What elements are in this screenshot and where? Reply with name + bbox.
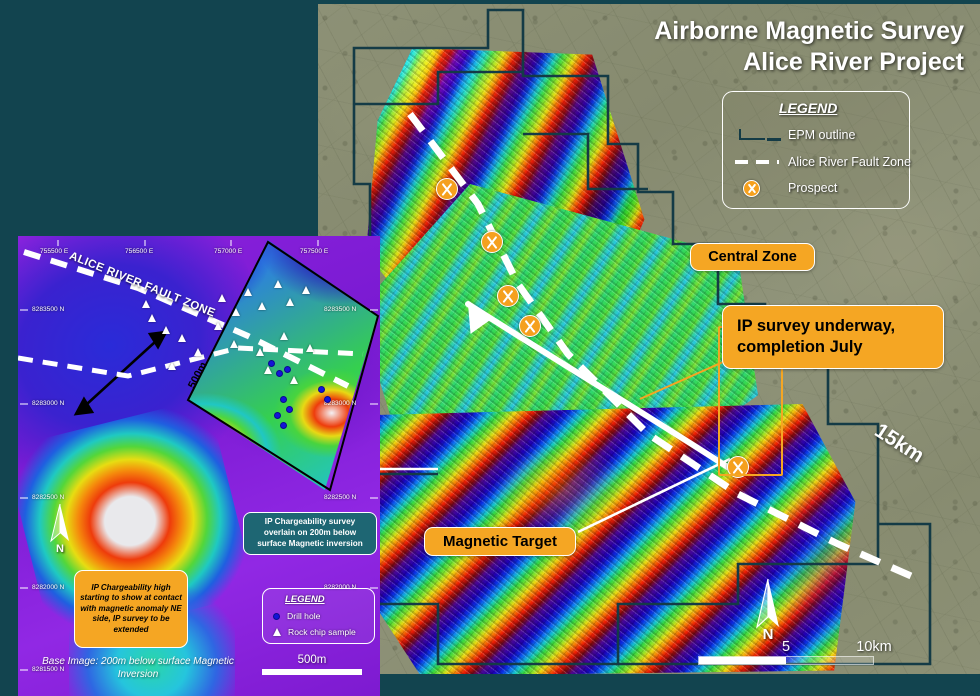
drill-hole-marker[interactable] xyxy=(284,366,291,373)
grid-label-northing: 8283000 N xyxy=(32,400,64,407)
map-figure: Airborne Magnetic Survey Alice River Pro… xyxy=(0,0,980,696)
rock-chip-sample-marker[interactable] xyxy=(168,362,176,370)
legend-item-epm-outline: EPM outline xyxy=(735,127,855,143)
inset-scale-label: 500m xyxy=(262,654,362,666)
rock-chip-sample-marker[interactable] xyxy=(194,348,202,356)
scale-label-end: 10km xyxy=(856,639,891,655)
scale-segment xyxy=(786,657,873,664)
inset-scale-bar: 500m xyxy=(262,654,362,675)
inset-scale-bar-fill xyxy=(262,669,362,675)
grid-label-northing: 8283500 N xyxy=(324,306,356,313)
title-line-1: Airborne Magnetic Survey xyxy=(318,16,964,47)
drill-hole-marker[interactable] xyxy=(276,370,283,377)
rock-chip-sample-icon xyxy=(273,628,281,636)
rock-chip-sample-marker[interactable] xyxy=(256,348,264,356)
rock-chip-sample-marker[interactable] xyxy=(214,322,222,330)
prospect-marker[interactable] xyxy=(481,231,503,253)
rock-chip-sample-marker[interactable] xyxy=(148,314,156,322)
drill-hole-marker[interactable] xyxy=(268,360,275,367)
rock-chip-sample-marker[interactable] xyxy=(306,344,314,352)
rock-chip-sample-marker[interactable] xyxy=(232,308,240,316)
grid-label-northing: 8283500 N xyxy=(32,306,64,313)
grid-label-northing: 8282500 N xyxy=(324,494,356,501)
rock-chip-sample-marker[interactable] xyxy=(244,288,252,296)
drill-hole-marker[interactable] xyxy=(318,386,325,393)
page-title: Airborne Magnetic Survey Alice River Pro… xyxy=(318,16,964,77)
prospect-marker-icon xyxy=(735,180,779,196)
rock-chip-sample-marker[interactable] xyxy=(230,340,238,348)
legend-label: EPM outline xyxy=(788,128,855,142)
callout-central-zone: Central Zone xyxy=(690,243,815,271)
inset-legend: LEGEND Drill hole Rock chip sample xyxy=(262,588,375,644)
inset-legend-label: Drill hole xyxy=(287,611,320,621)
drill-hole-marker[interactable] xyxy=(274,412,281,419)
callout-ip-survey: IP survey underway, completion July xyxy=(722,305,944,369)
inset-north-label: N xyxy=(46,543,74,555)
drill-hole-marker[interactable] xyxy=(324,396,331,403)
drill-hole-marker[interactable] xyxy=(286,406,293,413)
prospect-marker[interactable] xyxy=(436,178,458,200)
inset-callout-ip-chargeability: IP Chargeability survey overlain on 200m… xyxy=(243,512,377,555)
epm-outline-swatch xyxy=(735,127,779,143)
prospect-marker[interactable] xyxy=(519,315,541,337)
grid-label-easting: 757000 E xyxy=(214,248,242,255)
rock-chip-sample-marker[interactable] xyxy=(290,376,298,384)
drill-hole-marker[interactable] xyxy=(280,422,287,429)
inset-base-image-caption: Base Image: 200m below surface Magnetic … xyxy=(38,655,238,681)
rock-chip-sample-marker[interactable] xyxy=(142,300,150,308)
inset-legend-item-rock-chip: Rock chip sample xyxy=(273,627,356,637)
rock-chip-sample-marker[interactable] xyxy=(218,294,226,302)
inset-legend-label: Rock chip sample xyxy=(288,627,356,637)
title-line-2: Alice River Project xyxy=(318,47,964,78)
scale-segment xyxy=(699,657,786,664)
legend-label: Prospect xyxy=(788,181,837,195)
prospect-marker[interactable] xyxy=(497,285,519,307)
legend-label: Alice River Fault Zone xyxy=(788,155,911,169)
rock-chip-sample-marker[interactable] xyxy=(178,334,186,342)
north-arrow: N xyxy=(750,579,786,641)
rock-chip-sample-marker[interactable] xyxy=(258,302,266,310)
grid-label-northing: 8282500 N xyxy=(32,494,64,501)
inset-legend-item-drill-hole: Drill hole xyxy=(273,611,320,621)
dashed-line-swatch xyxy=(735,154,779,170)
grid-label-northing: 8282000 N xyxy=(32,584,64,591)
grid-label-easting: 757500 E xyxy=(300,248,328,255)
rock-chip-sample-marker[interactable] xyxy=(302,286,310,294)
grid-label-easting: 755500 E xyxy=(40,248,68,255)
grid-label-easting: 756500 E xyxy=(125,248,153,255)
drill-hole-marker[interactable] xyxy=(280,396,287,403)
rock-chip-sample-marker[interactable] xyxy=(274,280,282,288)
rock-chip-sample-marker[interactable] xyxy=(280,332,288,340)
rock-chip-sample-marker[interactable] xyxy=(162,326,170,334)
legend-item-prospect: Prospect xyxy=(735,180,837,196)
legend-item-fault-zone: Alice River Fault Zone xyxy=(735,154,911,170)
callout-magnetic-target: Magnetic Target xyxy=(424,527,576,556)
rock-chip-sample-marker[interactable] xyxy=(264,366,272,374)
scale-bar: 5 10km xyxy=(698,639,874,665)
inset-legend-heading: LEGEND xyxy=(285,594,325,605)
inset-callout-chargeability-high: IP Chargeability high starting to show a… xyxy=(74,570,188,648)
magnetic-imagery-south xyxy=(336,404,866,674)
map-legend: LEGEND EPM outline Alice River Fault Zon… xyxy=(722,91,910,209)
inset-north-arrow: N xyxy=(46,504,74,552)
legend-heading: LEGEND xyxy=(779,100,837,116)
scale-label-mid: 5 xyxy=(782,639,790,655)
rock-chip-sample-marker[interactable] xyxy=(286,298,294,306)
drill-hole-icon xyxy=(273,613,280,620)
